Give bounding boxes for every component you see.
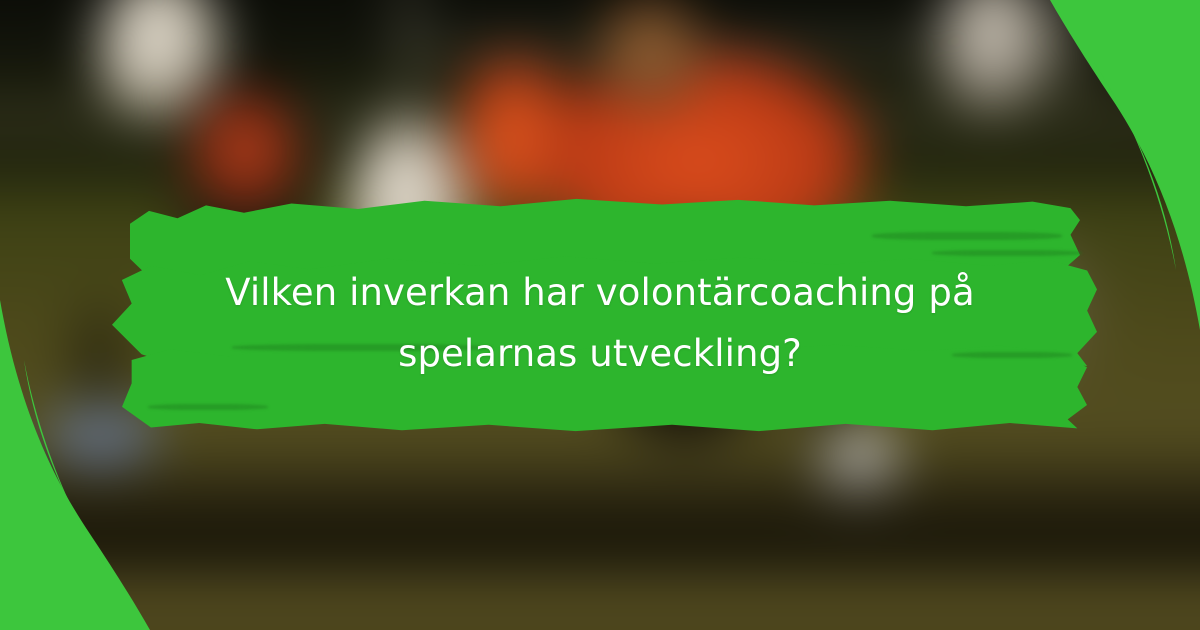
photo-player-head: [595, 0, 705, 110]
brush-texture-streak-2: [932, 250, 1082, 256]
headline-line-2: spelarnas utveckling?: [180, 323, 1020, 384]
brush-texture-streak-1: [872, 232, 1062, 240]
headline-text: Vilken inverkan har volontärcoaching på …: [0, 262, 1200, 384]
brush-texture-streak-5: [148, 404, 268, 410]
photo-foreground-shadow: [0, 440, 1200, 570]
headline-line-1: Vilken inverkan har volontärcoaching på: [180, 262, 1020, 323]
share-card: Vilken inverkan har volontärcoaching på …: [0, 0, 1200, 630]
